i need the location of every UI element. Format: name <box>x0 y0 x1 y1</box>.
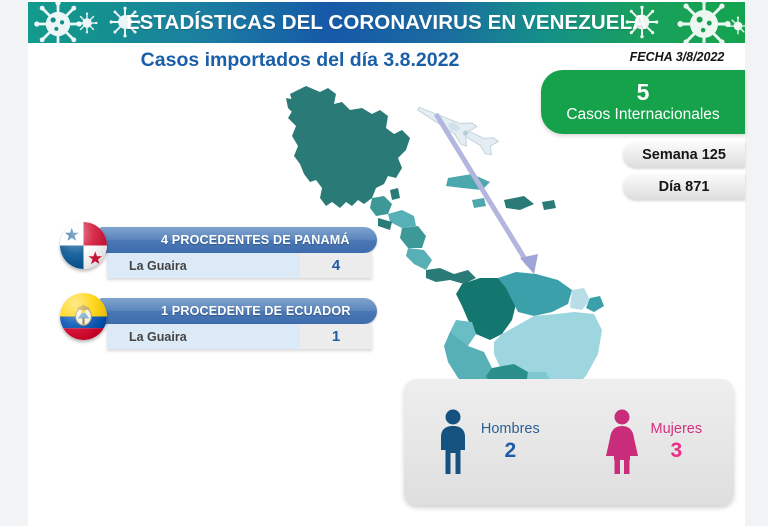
origin-state-row: La Guaira 1 <box>107 324 372 349</box>
female-figure-icon <box>604 408 640 476</box>
map-region-puertorico <box>542 200 556 210</box>
gender-item-men: Hombres 2 <box>436 408 540 476</box>
gender-men-value: 2 <box>504 438 516 463</box>
page-title: ESTADÍSTICAS DEL CORONAVIRUS EN VENEZUEL… <box>28 2 745 43</box>
header-banner: ESTADÍSTICAS DEL CORONAVIRUS EN VENEZUEL… <box>28 2 745 43</box>
gender-women-value: 3 <box>670 438 682 463</box>
map-region-guatemala <box>370 196 392 216</box>
origin-state-value: 1 <box>300 324 372 349</box>
map-region-costarica <box>406 248 432 270</box>
infographic-canvas: ESTADÍSTICAS DEL CORONAVIRUS EN VENEZUEL… <box>0 0 768 526</box>
gender-women-label: Mujeres <box>651 420 703 438</box>
origin-state-name: La Guaira <box>107 330 300 344</box>
date-label: FECHA 3/8/2022 <box>612 48 742 66</box>
origin-heading: 1 PROCEDENTE DE ECUADOR <box>99 298 377 324</box>
international-cases-label: Casos Internacionales <box>566 107 719 123</box>
map-region-belize <box>390 188 400 200</box>
origin-state-row: La Guaira 4 <box>107 253 372 278</box>
map-region-panama <box>426 268 476 284</box>
gender-women-text: Mujeres 3 <box>651 420 703 463</box>
gender-men-label: Hombres <box>481 420 540 438</box>
international-cases-count: 5 <box>637 81 650 104</box>
male-figure-icon <box>436 408 470 476</box>
map-region-jamaica <box>472 198 486 208</box>
gender-item-women: Mujeres 3 <box>604 408 703 476</box>
gender-breakdown-panel: Hombres 2 Mujeres 3 <box>404 379 734 505</box>
origin-state-value: 4 <box>300 253 372 278</box>
international-cases-box: 5 Casos Internacionales <box>541 70 745 134</box>
ecuador-flag-icon <box>60 293 107 340</box>
map-region-hispaniola <box>504 196 534 210</box>
origin-heading: 4 PROCEDENTES DE PANAMÁ <box>99 227 377 253</box>
panama-flag-icon <box>60 222 107 269</box>
map-region-honduras <box>388 210 416 228</box>
gender-men-text: Hombres 2 <box>481 420 540 463</box>
day-badge: Día 871 <box>623 174 745 200</box>
subtitle: Casos importados del día 3.8.2022 <box>80 46 520 74</box>
map-region-nicaragua <box>400 226 426 248</box>
week-badge: Semana 125 <box>623 142 745 168</box>
origin-state-name: La Guaira <box>107 259 300 273</box>
